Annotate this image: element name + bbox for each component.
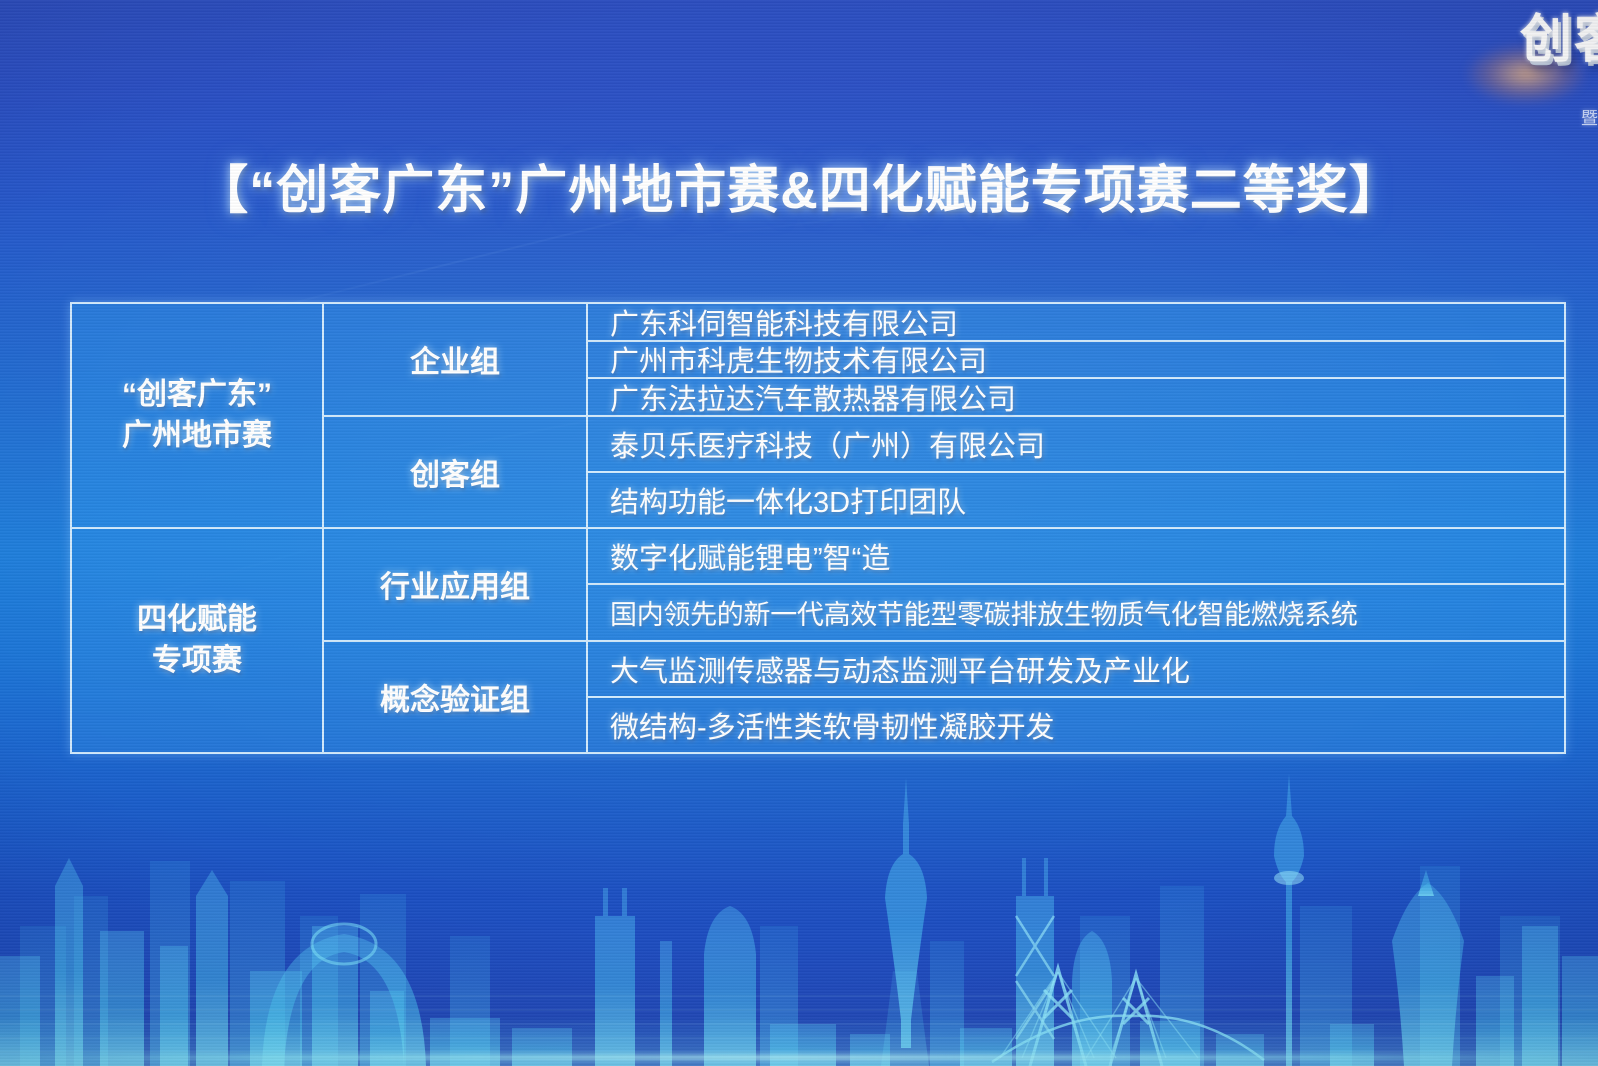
category-label-cell: 行业应用组 bbox=[324, 529, 588, 640]
city-main-layer bbox=[0, 774, 1598, 1066]
table-group-row: “创客广东” 广州地市赛 企业组 广东科伺智能科技有限公司 广州市科虎生物技术有… bbox=[72, 304, 1564, 529]
winner-entry: 结构功能一体化3D打印团队 bbox=[588, 473, 1564, 527]
winner-list: 泰贝乐医疗科技（广州）有限公司 结构功能一体化3D打印团队 bbox=[588, 417, 1564, 528]
winner-entry: 数字化赋能锂电”智“造 bbox=[588, 529, 1564, 585]
winner-entry: 广州市科虎生物技术有限公司 bbox=[588, 342, 1564, 380]
competition-name-line1: “创客广东” bbox=[122, 378, 272, 411]
subgroup-row: 行业应用组 数字化赋能锂电”智“造 国内领先的新一代高效节能型零碳排放生物质气化… bbox=[324, 529, 1564, 642]
brand-logo: 创客 bbox=[1520, 14, 1598, 66]
category-label-cell: 企业组 bbox=[324, 304, 588, 415]
subgroup-container: 行业应用组 数字化赋能锂电”智“造 国内领先的新一代高效节能型零碳排放生物质气化… bbox=[324, 529, 1564, 752]
category-label-cell: 概念验证组 bbox=[324, 642, 588, 753]
winner-entry: 广东科伺智能科技有限公司 bbox=[588, 304, 1564, 342]
subgroup-container: 企业组 广东科伺智能科技有限公司 广州市科虎生物技术有限公司 广东法拉达汽车散热… bbox=[324, 304, 1564, 527]
competition-name-line2: 广州地市赛 bbox=[122, 419, 272, 452]
winner-entry: 广东法拉达汽车散热器有限公司 bbox=[588, 379, 1564, 415]
presentation-slide: 创客 暨 【“创客广东”广州地市赛&四化赋能专项赛二等奖】 “创客广东” 广州地… bbox=[0, 0, 1598, 1066]
brand-logo-subtext: 暨 bbox=[1581, 104, 1598, 129]
subgroup-row: 创客组 泰贝乐医疗科技（广州）有限公司 结构功能一体化3D打印团队 bbox=[324, 417, 1564, 528]
winner-entry: 泰贝乐医疗科技（广州）有限公司 bbox=[588, 417, 1564, 473]
table-group-row: 四化赋能 专项赛 行业应用组 数字化赋能锂电”智“造 国内领先的新一代高效节能型… bbox=[72, 529, 1564, 752]
competition-name-line2: 专项赛 bbox=[152, 644, 242, 677]
page-title: 【“创客广东”广州地市赛&四化赋能专项赛二等奖】 bbox=[0, 148, 1598, 223]
city-back-layer bbox=[20, 861, 1560, 1066]
competition-name-line1: 四化赋能 bbox=[137, 603, 257, 636]
award-table: “创客广东” 广州地市赛 企业组 广东科伺智能科技有限公司 广州市科虎生物技术有… bbox=[70, 302, 1566, 754]
subgroup-row: 企业组 广东科伺智能科技有限公司 广州市科虎生物技术有限公司 广东法拉达汽车散热… bbox=[324, 304, 1564, 417]
competition-name-cell: 四化赋能 专项赛 bbox=[72, 529, 324, 752]
category-label-cell: 创客组 bbox=[324, 417, 588, 528]
winner-entry: 微结构-多活性类软骨韧性凝胶开发 bbox=[588, 698, 1564, 752]
winner-list: 大气监测传感器与动态监测平台研发及产业化 微结构-多活性类软骨韧性凝胶开发 bbox=[588, 642, 1564, 753]
winner-entry: 国内领先的新一代高效节能型零碳排放生物质气化智能燃烧系统 bbox=[588, 585, 1564, 639]
winner-list: 数字化赋能锂电”智“造 国内领先的新一代高效节能型零碳排放生物质气化智能燃烧系统 bbox=[588, 529, 1564, 640]
bridge-illustration bbox=[992, 968, 1264, 1066]
winner-entry: 大气监测传感器与动态监测平台研发及产业化 bbox=[588, 642, 1564, 698]
subgroup-row: 概念验证组 大气监测传感器与动态监测平台研发及产业化 微结构-多活性类软骨韧性凝… bbox=[324, 642, 1564, 753]
brand-logo-text: 创客 bbox=[1520, 14, 1598, 66]
competition-name-cell: “创客广东” 广州地市赛 bbox=[72, 304, 324, 527]
city-horizon-glow bbox=[0, 1055, 1598, 1060]
winner-list: 广东科伺智能科技有限公司 广州市科虎生物技术有限公司 广东法拉达汽车散热器有限公… bbox=[588, 304, 1564, 415]
cityscape-illustration bbox=[0, 766, 1598, 1066]
